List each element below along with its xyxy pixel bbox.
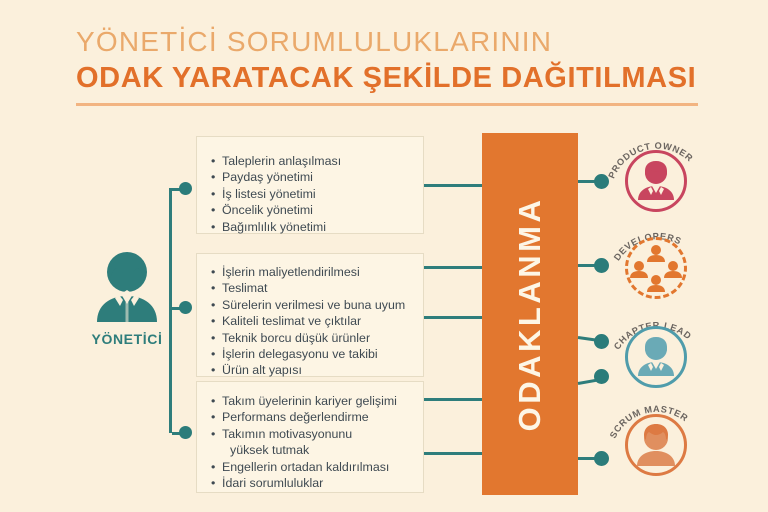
- list-item: Taleplerin anlaşılması: [211, 153, 423, 169]
- connector-dot-left-3: [179, 426, 192, 439]
- list-item: Teknik borcu düşük ürünler: [211, 330, 423, 346]
- list-item: Paydaş yönetimi: [211, 169, 423, 185]
- role-badge-scrum-master[interactable]: SCRUM MASTER: [600, 392, 712, 488]
- connector-box2b-to-focus: [424, 316, 482, 319]
- connector-spine: [169, 188, 172, 433]
- single-person-icon: [625, 414, 687, 476]
- responsibility-group-1: Taleplerin anlaşılması Paydaş yönetimi İ…: [196, 136, 424, 234]
- list-item: Kaliteli teslimat ve çıktılar: [211, 313, 423, 329]
- list-item: Öncelik yönetimi: [211, 202, 423, 218]
- connector-dot-left-1: [179, 182, 192, 195]
- infographic-canvas: YÖNETİCİ SORUMLULUKLARININ ODAK YARATACA…: [0, 0, 768, 512]
- role-badge-chapter-lead[interactable]: CHAPTER LEAD: [600, 304, 712, 400]
- list-item: İşlerin delegasyonu ve takibi: [211, 346, 423, 362]
- role-badge-developers[interactable]: DEVELOPERS: [600, 215, 712, 311]
- list-item-continuation: yüksek tutmak: [211, 442, 423, 458]
- list-item: İşlerin maliyetlendirilmesi: [211, 264, 423, 280]
- list-item: Takım üyelerinin kariyer gelişimi: [211, 393, 423, 409]
- manager-label: YÖNETİCİ: [82, 331, 172, 347]
- group-of-people-icon: [625, 237, 687, 299]
- page-title-line-1: YÖNETİCİ SORUMLULUKLARININ: [76, 26, 552, 58]
- manager-node: YÖNETİCİ: [82, 250, 172, 347]
- list-item: Engellerin ortadan kaldırılması: [211, 459, 423, 475]
- list-item: Takımın motivasyonunu: [211, 426, 423, 442]
- list-item: İdari sorumluluklar: [211, 475, 423, 491]
- list-item: İş listesi yönetimi: [211, 186, 423, 202]
- list-item: Performans değerlendirme: [211, 409, 423, 425]
- connector-box1-to-focus: [424, 184, 482, 187]
- single-person-icon: [625, 150, 687, 212]
- list-item: Teslimat: [211, 280, 423, 296]
- manager-avatar-icon: [83, 250, 171, 322]
- connector-box2-to-focus: [424, 266, 482, 269]
- list-item: Bağımlılık yönetimi: [211, 219, 423, 235]
- title-divider: [76, 103, 698, 106]
- connector-box3b-to-focus: [424, 452, 482, 455]
- page-title-line-2: ODAK YARATACAK ŞEKİLDE DAĞITILMASI: [76, 62, 696, 95]
- focus-column-label: ODAKLANMA: [482, 133, 578, 495]
- list-item: Sürelerin verilmesi ve buna uyum: [211, 297, 423, 313]
- role-badge-product-owner[interactable]: PRODUCT OWNER: [600, 128, 712, 224]
- single-person-icon: [625, 326, 687, 388]
- connector-box3-to-focus: [424, 398, 482, 401]
- responsibility-group-2: İşlerin maliyetlendirilmesi Teslimat Sür…: [196, 253, 424, 377]
- focus-column: ODAKLANMA: [482, 133, 578, 495]
- list-item: Ürün alt yapısı: [211, 362, 423, 378]
- responsibility-group-3: Takım üyelerinin kariyer gelişimi Perfor…: [196, 381, 424, 493]
- connector-dot-left-2: [179, 301, 192, 314]
